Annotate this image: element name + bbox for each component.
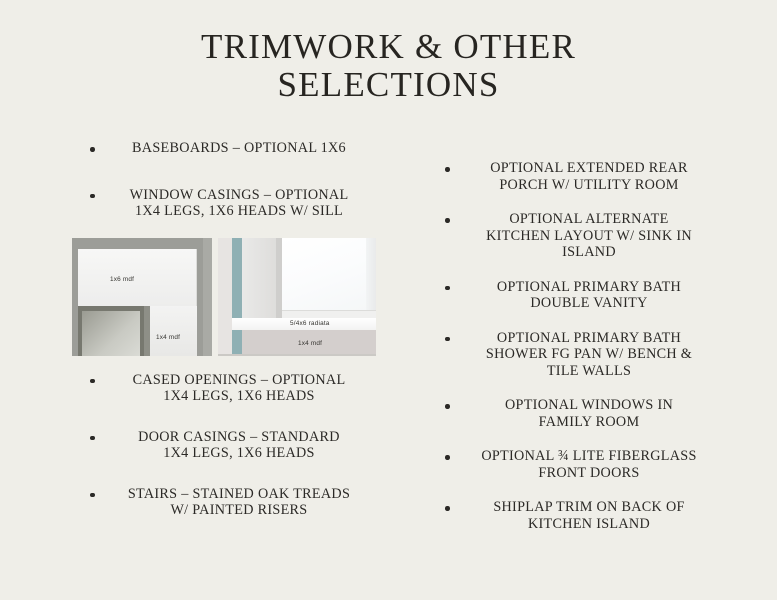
right-bullet-list: OPTIONAL EXTENDED REAR PORCH W/ UTILITY … (425, 160, 725, 550)
bullet-dot-icon (445, 455, 450, 460)
list-item: CASED OPENINGS – OPTIONAL 1X4 LEGS, 1X6 … (60, 372, 390, 405)
list-item-line-1: OPTIONAL WINDOWS IN (505, 397, 673, 413)
bullet-dot-icon (445, 286, 450, 291)
photo-label-apron: 1x4 mdf (298, 340, 322, 347)
bullet-dot-icon (445, 167, 450, 172)
list-item: DOOR CASINGS – STANDARD 1X4 LEGS, 1X6 HE… (60, 429, 390, 462)
photo-sill-floor-line (218, 354, 376, 356)
list-item-text: STAIRS – STAINED OAK TREADS W/ PAINTED R… (98, 486, 390, 519)
photo-opening-recess (78, 306, 144, 356)
photo-label-sill: 5/4x6 radiata (290, 320, 330, 327)
photo-strip: 1x6 mdf 1x4 mdf 5/4x6 radiata 1x4 mdf (72, 238, 376, 356)
list-item-line-2: 1X4 LEGS, 1X6 HEADS (98, 388, 380, 405)
list-item-line-1: BASEBOARDS – OPTIONAL 1X6 (132, 140, 346, 156)
list-item-line-3: TILE WALLS (463, 363, 715, 380)
photo-label-leg: 1x4 mdf (156, 334, 180, 341)
list-item-text: OPTIONAL PRIMARY BATH SHOWER FG PAN W/ B… (463, 330, 725, 380)
photo-wall-edge (203, 238, 212, 356)
list-item-text: OPTIONAL ALTERNATE KITCHEN LAYOUT W/ SIN… (463, 211, 725, 261)
photo-casing-head (78, 249, 197, 312)
list-item-line-1: OPTIONAL PRIMARY BATH (497, 330, 681, 346)
photo-label-head: 1x6 mdf (110, 276, 134, 283)
list-item-line-1: OPTIONAL ALTERNATE (509, 211, 668, 227)
page-title-line-1: TRIMWORK & OTHER (0, 28, 777, 66)
list-item-line-1: OPTIONAL PRIMARY BATH (497, 279, 681, 295)
list-item-line-1: CASED OPENINGS – OPTIONAL (133, 372, 346, 388)
list-item: STAIRS – STAINED OAK TREADS W/ PAINTED R… (60, 486, 390, 519)
list-item-line-2: KITCHEN LAYOUT W/ SINK IN (463, 228, 715, 245)
bullet-dot-icon (90, 194, 95, 199)
list-item-line-2: DOUBLE VANITY (463, 295, 715, 312)
list-item-text: OPTIONAL EXTENDED REAR PORCH W/ UTILITY … (463, 160, 725, 193)
bullet-dot-icon (90, 379, 95, 384)
list-item-line-3: ISLAND (463, 244, 715, 261)
photo-accent-wall (232, 238, 242, 356)
list-item-text: OPTIONAL PRIMARY BATH DOUBLE VANITY (463, 279, 725, 312)
bullet-dot-icon (445, 337, 450, 342)
photo-opening-inner (82, 311, 140, 356)
slide-canvas: TRIMWORK & OTHER SELECTIONS BASEBOARDS –… (0, 0, 777, 600)
bullet-dot-icon (445, 218, 450, 223)
photo-window-glass (282, 238, 376, 316)
photo-window-glass-edge (366, 238, 376, 316)
bullet-dot-icon (445, 506, 450, 511)
list-item-line-1: STAIRS – STAINED OAK TREADS (128, 486, 350, 502)
list-item: OPTIONAL PRIMARY BATH SHOWER FG PAN W/ B… (425, 330, 725, 380)
list-item-line-1: SHIPLAP TRIM ON BACK OF (493, 499, 684, 515)
list-item-line-2: 1X4 LEGS, 1X6 HEADS W/ SILL (98, 203, 380, 220)
list-item: OPTIONAL WINDOWS IN FAMILY ROOM (425, 397, 725, 430)
list-item-line-2: FRONT DOORS (463, 465, 715, 482)
list-item-line-2: FAMILY ROOM (463, 414, 715, 431)
window-sill-photo: 5/4x6 radiata 1x4 mdf (218, 238, 376, 356)
list-item-text: CASED OPENINGS – OPTIONAL 1X4 LEGS, 1X6 … (98, 372, 390, 405)
list-item-line-1: WINDOW CASINGS – OPTIONAL (130, 187, 349, 203)
list-item-text: OPTIONAL WINDOWS IN FAMILY ROOM (463, 397, 725, 430)
list-item-line-2: KITCHEN ISLAND (463, 516, 715, 533)
list-item: WINDOW CASINGS – OPTIONAL 1X4 LEGS, 1X6 … (60, 187, 390, 220)
page-title: TRIMWORK & OTHER SELECTIONS (0, 28, 777, 104)
list-item-text: DOOR CASINGS – STANDARD 1X4 LEGS, 1X6 HE… (98, 429, 390, 462)
page-title-line-2: SELECTIONS (0, 66, 777, 104)
list-item-text: BASEBOARDS – OPTIONAL 1X6 (98, 140, 390, 157)
list-item-line-2: 1X4 LEGS, 1X6 HEADS (98, 445, 380, 462)
list-item-line-2: W/ PAINTED RISERS (98, 502, 380, 519)
photo-casing-leg (150, 306, 197, 356)
cased-opening-photo: 1x6 mdf 1x4 mdf (72, 238, 212, 356)
list-item: SHIPLAP TRIM ON BACK OF KITCHEN ISLAND (425, 499, 725, 532)
list-item-text: OPTIONAL ¾ LITE FIBERGLASS FRONT DOORS (463, 448, 725, 481)
list-item-line-1: OPTIONAL EXTENDED REAR (490, 160, 688, 176)
bullet-dot-icon (90, 147, 95, 152)
list-item: BASEBOARDS – OPTIONAL 1X6 (60, 140, 390, 157)
photo-window-sash (282, 310, 376, 318)
list-item-line-2: SHOWER FG PAN W/ BENCH & (463, 346, 715, 363)
list-item-text: WINDOW CASINGS – OPTIONAL 1X4 LEGS, 1X6 … (98, 187, 390, 220)
list-item-line-1: OPTIONAL ¾ LITE FIBERGLASS (481, 448, 696, 464)
bullet-dot-icon (445, 404, 450, 409)
list-item-line-2: PORCH W/ UTILITY ROOM (463, 177, 715, 194)
photo-window-side-casing (276, 238, 282, 322)
bullet-dot-icon (90, 436, 95, 441)
list-item: OPTIONAL PRIMARY BATH DOUBLE VANITY (425, 279, 725, 312)
bullet-dot-icon (90, 493, 95, 498)
list-item: OPTIONAL ¾ LITE FIBERGLASS FRONT DOORS (425, 448, 725, 481)
list-item-line-1: DOOR CASINGS – STANDARD (138, 429, 340, 445)
list-item: OPTIONAL EXTENDED REAR PORCH W/ UTILITY … (425, 160, 725, 193)
list-item: OPTIONAL ALTERNATE KITCHEN LAYOUT W/ SIN… (425, 211, 725, 261)
list-item-text: SHIPLAP TRIM ON BACK OF KITCHEN ISLAND (463, 499, 725, 532)
